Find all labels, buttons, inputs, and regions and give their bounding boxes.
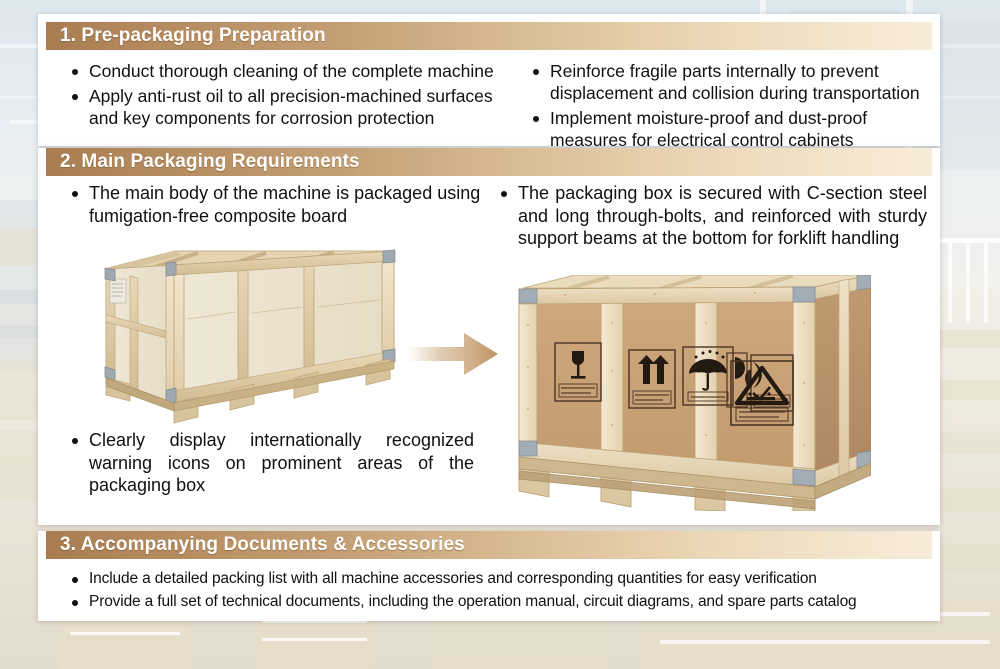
section-accompanying-documents-accessories: 3. Accompanying Documents & Accessories … bbox=[38, 531, 940, 621]
list-item: The packaging box is secured with C-sect… bbox=[493, 182, 927, 250]
list-item: The main body of the machine is packaged… bbox=[64, 182, 494, 227]
list-item: Implement moisture-proof and dust-proof … bbox=[525, 107, 929, 151]
list-item: Provide a full set of technical document… bbox=[64, 592, 926, 612]
section-3-title: 3. Accompanying Documents & Accessories bbox=[46, 534, 465, 556]
list-item: Clearly display internationally recogniz… bbox=[64, 429, 474, 497]
section-1-left-bullets: Conduct thorough cleaning of the complet… bbox=[64, 60, 512, 132]
left-crate-image: Light fumigation-free composite board sh… bbox=[78, 243, 400, 431]
right-crate-image: Kraft-brown shipping crate with internat… bbox=[505, 275, 871, 511]
list-item: Include a detailed packing list with all… bbox=[64, 569, 926, 589]
section-3-header-bar: 3. Accompanying Documents & Accessories bbox=[46, 531, 932, 559]
section-2-right-bullets: The packaging box is secured with C-sect… bbox=[493, 182, 927, 253]
process-arrow-icon: Arrow pointing right from the plain crat… bbox=[408, 330, 500, 378]
section-2-left-bullets: The main body of the machine is packaged… bbox=[64, 182, 494, 230]
section-2-left-bullets-lower: Clearly display internationally recogniz… bbox=[64, 429, 474, 500]
section-2-header-bar: 2. Main Packaging Requirements bbox=[46, 148, 932, 176]
list-item: Reinforce fragile parts internally to pr… bbox=[525, 60, 929, 104]
section-1-title: 1. Pre-packaging Preparation bbox=[46, 25, 326, 47]
list-item: Apply anti-rust oil to all precision-mac… bbox=[64, 85, 512, 129]
section-pre-packaging-preparation: 1. Pre-packaging Preparation Conduct tho… bbox=[38, 14, 940, 146]
list-item: Conduct thorough cleaning of the complet… bbox=[64, 60, 512, 82]
section-2-title: 2. Main Packaging Requirements bbox=[46, 151, 360, 173]
section-3-bullets: Include a detailed packing list with all… bbox=[64, 569, 926, 614]
section-1-right-bullets: Reinforce fragile parts internally to pr… bbox=[525, 60, 929, 154]
section-1-header-bar: 1. Pre-packaging Preparation bbox=[46, 22, 932, 50]
